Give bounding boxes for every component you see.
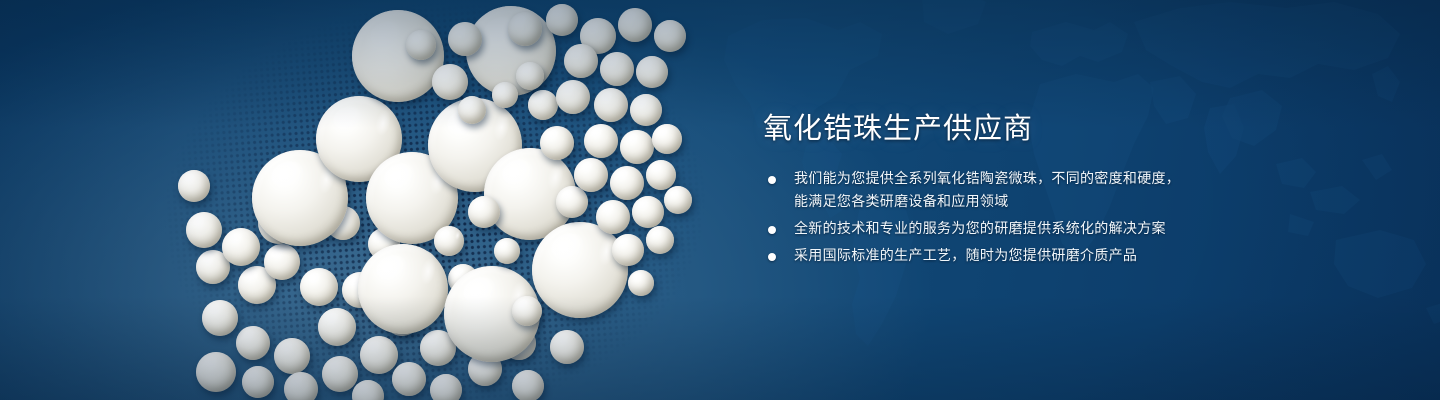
feature-list-item: 全新的技术和专业的服务为您的研磨提供系统化的解决方案 [768,218,1180,241]
hero-banner: 氧化锆珠生产供应商 我们能为您提供全系列氧化锆陶瓷微珠，不同的密度和硬度， 能满… [0,0,1440,400]
banner-headline: 氧化锆珠生产供应商 [763,110,1033,146]
feature-list-item: 采用国际标准的生产工艺，随时为您提供研磨介质产品 [768,245,1180,268]
feature-list-item: 我们能为您提供全系列氧化锆陶瓷微珠，不同的密度和硬度， 能满足您各类研磨设备和应… [768,168,1180,214]
feature-text-line1: 我们能为您提供全系列氧化锆陶瓷微珠，不同的密度和硬度， [794,171,1180,187]
feature-text-line2: 能满足您各类研磨设备和应用领域 [794,191,1180,214]
dot-bullet-icon [768,253,776,261]
feature-text-line1: 采用国际标准的生产工艺，随时为您提供研磨介质产品 [794,248,1137,264]
banner-text-block: 氧化锆珠生产供应商 我们能为您提供全系列氧化锆陶瓷微珠，不同的密度和硬度， 能满… [763,0,1363,400]
dot-bullet-icon [768,226,776,234]
feature-text-line1: 全新的技术和专业的服务为您的研磨提供系统化的解决方案 [794,221,1166,237]
dot-bullet-icon [768,176,776,184]
banner-feature-list: 我们能为您提供全系列氧化锆陶瓷微珠，不同的密度和硬度， 能满足您各类研磨设备和应… [768,168,1180,272]
